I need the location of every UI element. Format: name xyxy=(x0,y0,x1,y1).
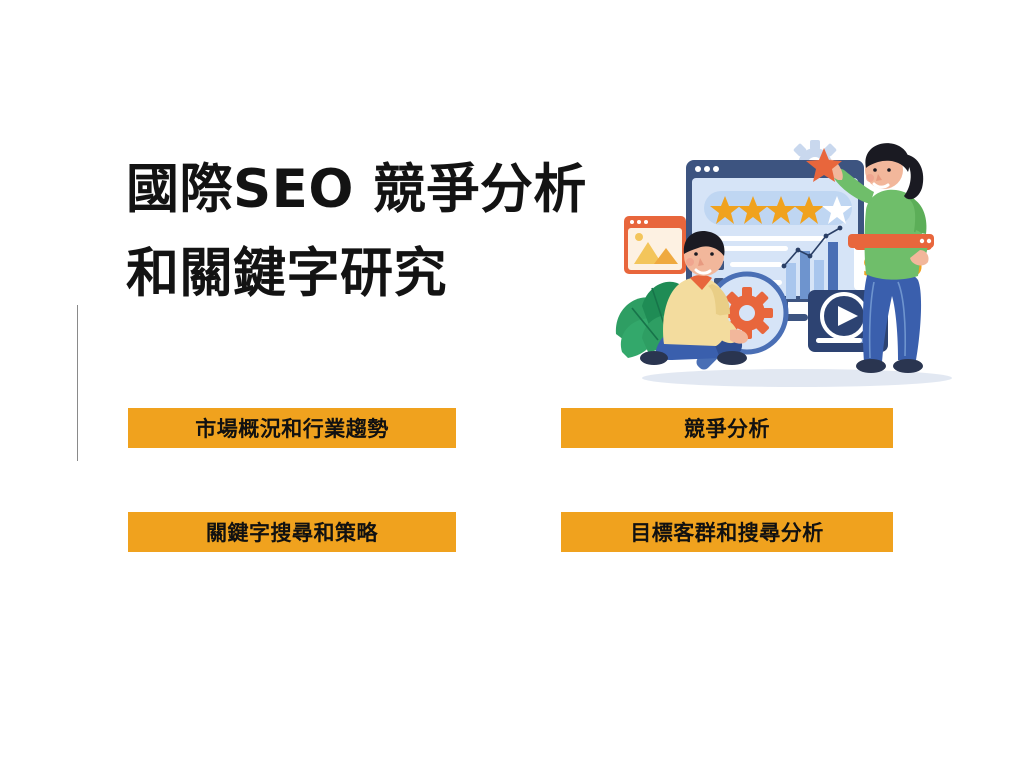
topic-button-audience-search-analysis[interactable]: 目標客群和搜尋分析 xyxy=(561,512,893,552)
slide-canvas: 國際SEO 競爭分析 和關鍵字研究 市場概況和行業趨勢 競爭分析 關鍵字搜尋和策… xyxy=(0,0,1024,768)
photo-card-icon xyxy=(624,216,686,274)
topic-button-keyword-strategy[interactable]: 關鍵字搜尋和策略 xyxy=(128,512,456,552)
seo-teamwork-illustration: SEO xyxy=(612,138,972,390)
shoe-icon xyxy=(856,359,886,373)
shoe-icon xyxy=(893,359,923,373)
topic-button-market-overview[interactable]: 市場概況和行業趨勢 xyxy=(128,408,456,448)
shoe-icon xyxy=(640,351,668,365)
topic-button-competitor-analysis[interactable]: 競爭分析 xyxy=(561,408,893,448)
page-title: 國際SEO 競爭分析 和關鍵字研究 xyxy=(126,148,686,316)
page-title-line-1: 國際SEO 競爭分析 xyxy=(126,148,686,232)
seo-banner-bar-icon xyxy=(848,234,934,248)
star-rating-bar xyxy=(704,191,852,225)
left-accent-rule xyxy=(77,305,78,461)
shoe-icon xyxy=(717,351,747,365)
page-title-line-2: 和關鍵字研究 xyxy=(126,232,686,316)
